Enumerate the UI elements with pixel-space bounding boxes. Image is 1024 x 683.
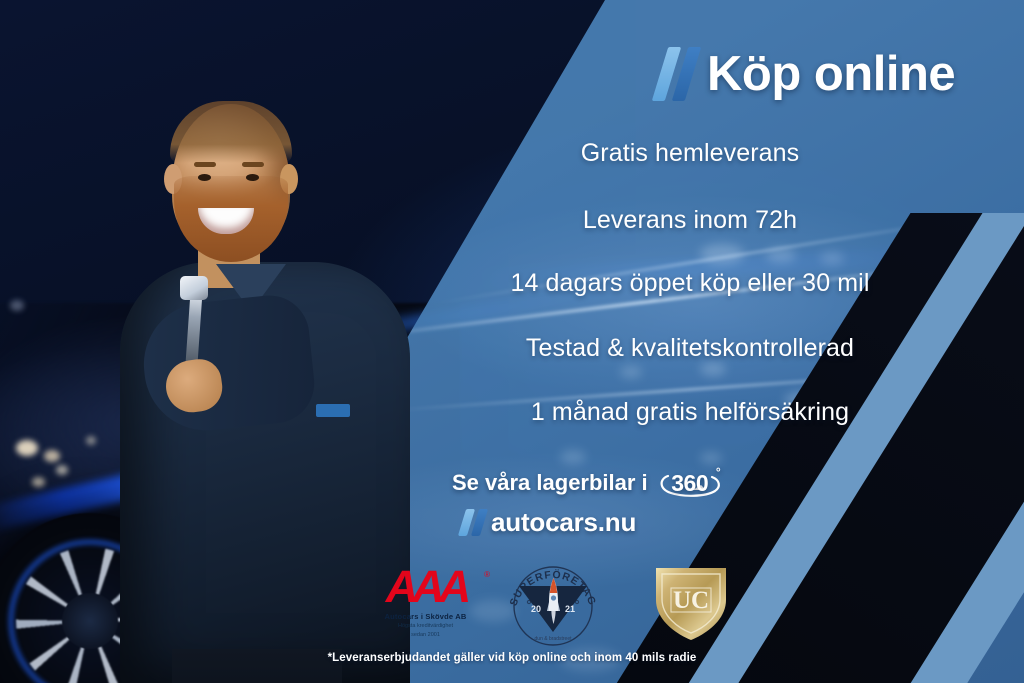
aaa-mark: AAA [363,564,488,609]
benefit-item: Leverans inom 72h [430,207,950,235]
cta-block[interactable]: Se våra lagerbilar i 360 ° autocars.nu [452,466,752,538]
double-slash-icon [660,47,693,101]
badge-number: 360 [671,470,708,497]
aaa-subtitle-2: sedan 2001 [363,632,488,639]
benefit-item: 14 dagars öppet köp eller 30 mil [430,270,950,298]
headline: Köp online [660,46,955,102]
aaa-logo: AAA ® Autocars i Skövde AB Högsta kredit… [363,564,488,640]
benefit-item: Gratis hemleverans [430,140,950,168]
uc-logo: UC [648,560,734,644]
aaa-subtitle-1: Högsta kreditvärdighet [363,623,488,630]
double-slash-icon [462,509,484,536]
rocket-icon [547,578,560,624]
cta-url-row[interactable]: autocars.nu [462,507,752,538]
superforetag-badge: SUPERFÖRETAG 20 21 dun & b [503,560,603,646]
superforetag-year-left: 20 [531,604,541,614]
superforetag-source: dun & bradstreet [521,636,585,642]
badge-degree: ° [716,465,721,479]
promo-banner: Köp online Gratis hemleverans Leverans i… [0,0,1024,683]
benefit-item: 1 månad gratis helförsäkring [430,399,950,427]
superforetag-year-right: 21 [565,604,575,614]
aaa-company-name: Autocars i Skövde AB [363,612,488,621]
cta-text: Se våra lagerbilar i [452,470,648,496]
uc-mark: UC [673,587,709,614]
footnote: *Leveranserbjudandet gäller vid köp onli… [0,652,1024,664]
brand-url[interactable]: autocars.nu [491,507,636,538]
benefit-item: Testad & kvalitetskontrollerad [430,335,950,363]
shield-icon: UC [648,560,734,644]
rotate-360-arrow-icon: 360 ° [657,466,723,500]
promo-content: Köp online Gratis hemleverans Leverans i… [0,0,1024,683]
cta-line-1: Se våra lagerbilar i 360 ° [452,466,752,500]
registered-trademark-icon: ® [484,570,490,579]
page-title: Köp online [707,46,955,102]
certification-logos: AAA ® Autocars i Skövde AB Högsta kredit… [355,558,755,646]
